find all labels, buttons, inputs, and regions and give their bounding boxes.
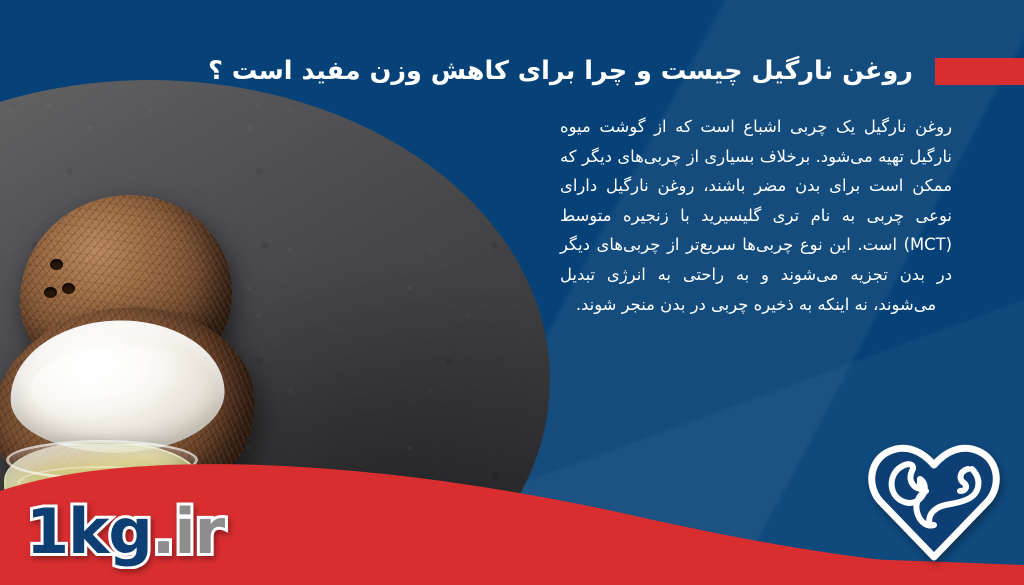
coconut-eye: [62, 283, 75, 294]
title-accent-bar: [935, 58, 1024, 85]
title-row: روغن نارگیل چیست و چرا برای کاهش وزن مفی…: [0, 50, 1024, 92]
heart-outline: [872, 448, 997, 557]
heart-bicep-icon[interactable]: [868, 439, 1000, 563]
coconut-eye: [44, 287, 57, 298]
logo-wordmark-suffix: .ir: [152, 495, 224, 568]
page-title: روغن نارگیل چیست و چرا برای کاهش وزن مفی…: [208, 56, 913, 87]
body-paragraph: روغن نارگیل یک چربی اشباع است که از گوشت…: [560, 112, 952, 319]
site-logo-wordmark[interactable]: 1kg.ir: [26, 501, 224, 563]
bowl-rim: [6, 440, 198, 480]
logo-wordmark-primary: 1kg: [26, 495, 152, 568]
coconut-eye: [50, 259, 63, 270]
banner-canvas: روغن نارگیل چیست و چرا برای کاهش وزن مفی…: [0, 0, 1024, 585]
